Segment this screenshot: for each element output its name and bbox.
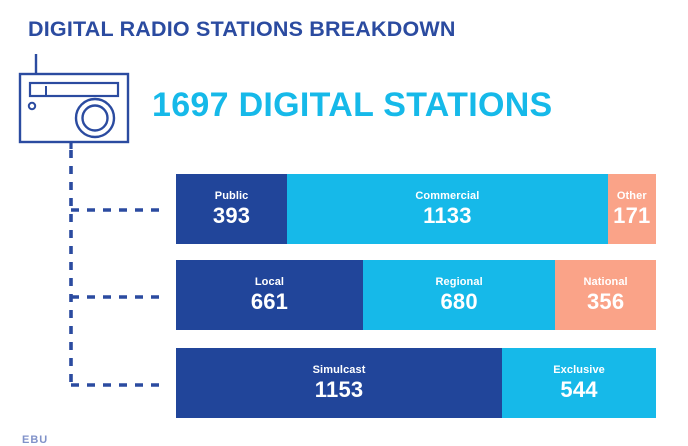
- bar-segment-label: Commercial: [415, 190, 479, 203]
- bar-segment-local[interactable]: Local 661: [176, 260, 363, 330]
- bar-segment-label: National: [584, 276, 628, 289]
- bar-segment-value: 356: [587, 289, 624, 314]
- bar-segment-value: 1153: [315, 377, 364, 402]
- bar-segment-label: Local: [255, 276, 284, 289]
- stacked-bar-row-distribution: Simulcast 1153 Exclusive 544: [176, 348, 656, 418]
- stacked-bar-row-coverage: Local 661 Regional 680 National 356: [176, 260, 656, 330]
- bar-segment-value: 661: [251, 289, 288, 314]
- bar-segment-value: 680: [440, 289, 477, 314]
- bar-segment-label: Public: [215, 190, 249, 203]
- footer-logo-mark: EBU: [22, 434, 48, 446]
- bar-segment-other[interactable]: Other 171: [608, 174, 656, 244]
- bar-segment-national[interactable]: National 356: [555, 260, 656, 330]
- bar-segment-label: Exclusive: [553, 364, 605, 377]
- headline-total-stations: 1697 DIGITAL STATIONS: [152, 86, 553, 125]
- bar-segment-value: 393: [213, 203, 250, 228]
- bar-segment-commercial[interactable]: Commercial 1133: [287, 174, 607, 244]
- bar-segment-label: Other: [617, 190, 647, 203]
- bar-segment-value: 544: [560, 377, 597, 402]
- bar-segment-simulcast[interactable]: Simulcast 1153: [176, 348, 502, 418]
- bar-segment-value: 171: [613, 203, 650, 228]
- page-title: DIGITAL RADIO STATIONS BREAKDOWN: [28, 17, 456, 42]
- radio-icon-svg: [16, 52, 140, 150]
- bar-segment-label: Regional: [435, 276, 482, 289]
- stacked-bar-row-ownership: Public 393 Commercial 1133 Other 171: [176, 174, 656, 244]
- radio-icon: [16, 52, 140, 150]
- bar-segment-label: Simulcast: [313, 364, 366, 377]
- bar-segment-regional[interactable]: Regional 680: [363, 260, 555, 330]
- bar-segment-public[interactable]: Public 393: [176, 174, 287, 244]
- bar-segment-value: 1133: [423, 203, 472, 228]
- bar-segment-exclusive[interactable]: Exclusive 544: [502, 348, 656, 418]
